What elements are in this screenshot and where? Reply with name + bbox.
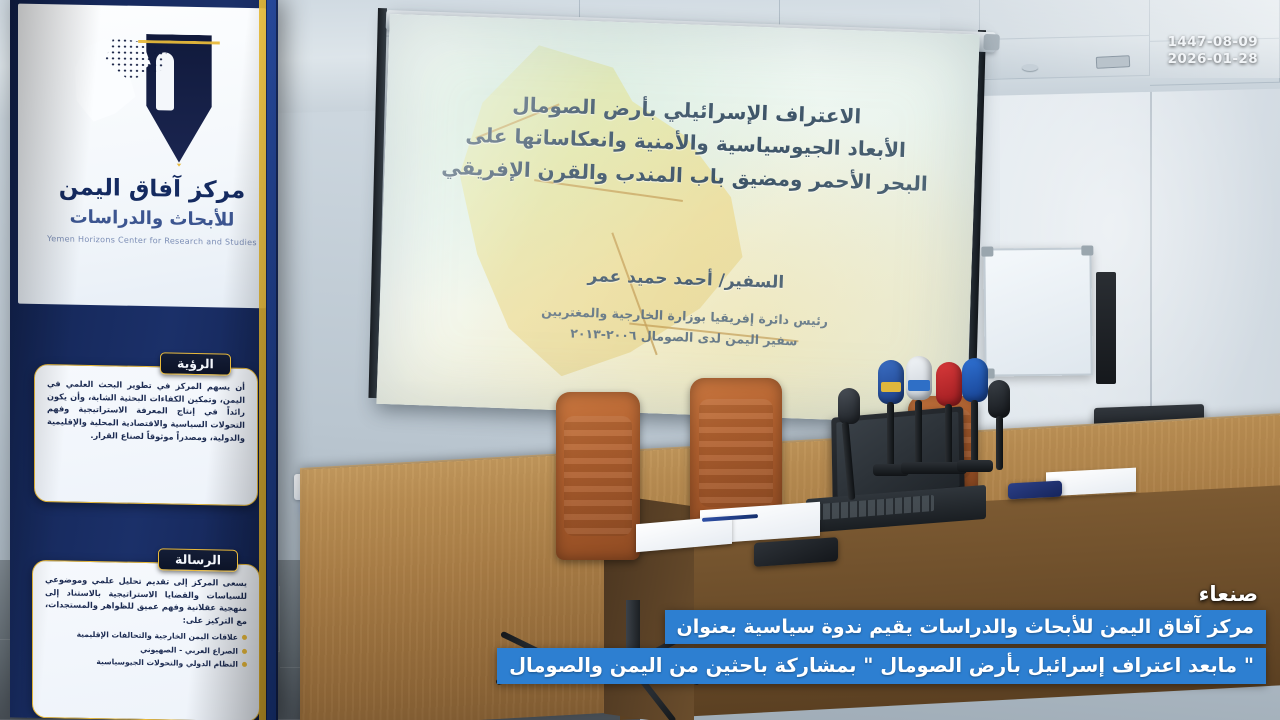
broadcast-frame: الاعتراف الإسرائيلي بأرض الصومال الأبعاد… bbox=[0, 0, 1280, 720]
notebook-right bbox=[1008, 481, 1062, 500]
caption-line-1: مركز آفاق اليمن للأبحاث والدراسات يقيم ن… bbox=[665, 610, 1267, 644]
smoke-detector-icon bbox=[1022, 64, 1038, 71]
mission-label: الرسالة bbox=[158, 548, 238, 572]
rollup-banner: مركز آفاق اليمن للأبحاث والدراسات Yemen … bbox=[10, 0, 278, 720]
vision-label: الرؤية bbox=[160, 352, 231, 375]
chair-left[interactable] bbox=[556, 392, 640, 560]
date-overlay: 1447-08-09 2026-01-28 bbox=[1168, 34, 1258, 69]
gregorian-date: 2026-01-28 bbox=[1168, 51, 1258, 68]
city-label: صنعاء bbox=[1199, 582, 1258, 606]
ceiling-vent bbox=[1096, 55, 1131, 69]
caption-line-2: " مابعد اعتراف إسرائيل بأرض الصومال " بم… bbox=[497, 648, 1266, 684]
speaker-box bbox=[1096, 272, 1116, 384]
whiteboard bbox=[983, 247, 1092, 376]
hijri-date: 1447-08-09 bbox=[1168, 34, 1258, 51]
banner-shading bbox=[10, 0, 278, 720]
